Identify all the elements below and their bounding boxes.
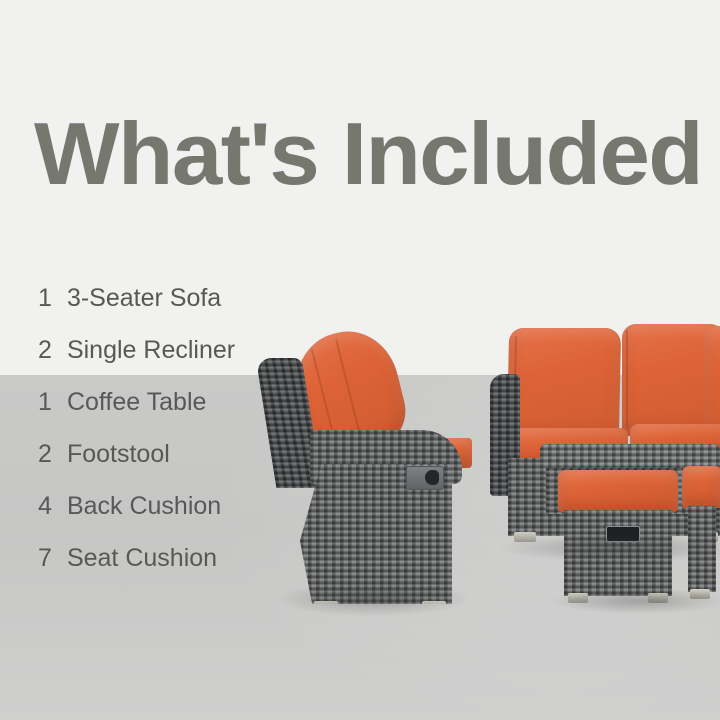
list-item: 2 Footstool [38, 428, 288, 480]
item-quantity: 2 [38, 428, 60, 480]
sofa-shadow [500, 534, 720, 562]
list-item: 1 Coffee Table [38, 376, 288, 428]
footstool-cushion [682, 466, 720, 508]
sofa-back-cushion [704, 326, 720, 436]
item-quantity: 4 [38, 480, 60, 532]
whats-included-infographic: What's Included 1 3-Seater Sofa 2 Single… [0, 0, 720, 720]
item-label: Seat Cushion [67, 532, 217, 584]
list-item: 1 3-Seater Sofa [38, 272, 288, 324]
item-quantity: 7 [38, 532, 60, 584]
included-items-list: 1 3-Seater Sofa 2 Single Recliner 1 Coff… [38, 272, 288, 584]
sofa-back-cushion [507, 328, 621, 440]
list-item: 4 Back Cushion [38, 480, 288, 532]
item-label: Footstool [67, 428, 170, 480]
recliner-adjust-handle [406, 466, 444, 490]
item-label: Back Cushion [67, 480, 221, 532]
recliner-shadow [278, 582, 468, 616]
footstool-shadow [552, 588, 720, 614]
item-label: Single Recliner [67, 324, 235, 376]
single-recliner [258, 330, 468, 615]
item-quantity: 2 [38, 324, 60, 376]
item-label: Coffee Table [67, 376, 206, 428]
footstool-cushion [558, 470, 678, 512]
item-quantity: 1 [38, 272, 60, 324]
list-item: 7 Seat Cushion [38, 532, 288, 584]
list-item: 2 Single Recliner [38, 324, 288, 376]
item-label: 3-Seater Sofa [67, 272, 221, 324]
item-quantity: 1 [38, 376, 60, 428]
